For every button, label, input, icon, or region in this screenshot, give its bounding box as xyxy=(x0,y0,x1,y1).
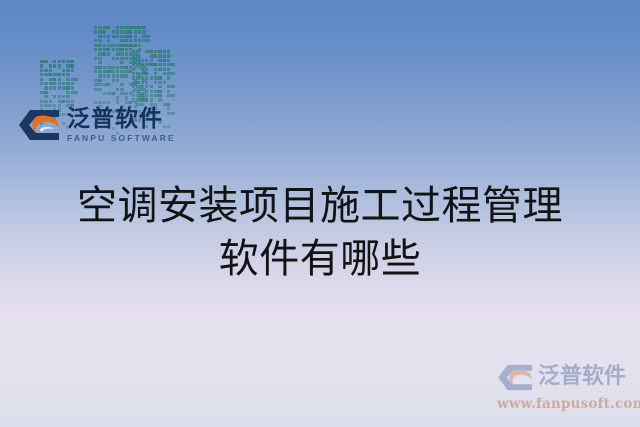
cityscape-pixel xyxy=(112,74,115,77)
cityscape-pixel xyxy=(158,68,161,71)
cityscape-pixel xyxy=(49,64,52,67)
cityscape-pixel xyxy=(44,100,47,103)
cityscape-pixel xyxy=(129,61,137,64)
cityscape-pixel xyxy=(66,60,74,63)
cityscape-pixel xyxy=(58,95,61,98)
cityscape-pixel xyxy=(142,39,150,42)
cityscape-pixel xyxy=(112,44,115,47)
cityscape-pixel xyxy=(134,101,137,104)
cityscape-pixel xyxy=(158,94,161,97)
fanpu-logo-cn-name: 泛普软件 xyxy=(67,108,176,131)
cityscape-pixel xyxy=(120,83,123,86)
cityscape-pixel xyxy=(98,57,101,60)
cityscape-pixel xyxy=(129,35,132,38)
cityscape-pixel xyxy=(138,30,141,33)
cityscape-pixel xyxy=(154,72,157,75)
cityscape-pixel xyxy=(134,88,137,91)
cityscape-pixel xyxy=(107,92,115,95)
cityscape-pixel xyxy=(107,44,115,47)
cityscape-pixel xyxy=(167,103,170,106)
cityscape-pixel xyxy=(167,59,170,62)
cityscape-pixel xyxy=(125,26,133,29)
cityscape-pixel xyxy=(163,68,166,71)
cityscape-pixel xyxy=(116,57,119,60)
cityscape-pixel xyxy=(66,69,69,72)
cityscape-pixel xyxy=(49,78,57,81)
cityscape-pixel xyxy=(62,60,65,63)
cityscape-pixel xyxy=(40,69,43,72)
cityscape-pixel xyxy=(44,104,52,107)
cityscape-pixel xyxy=(145,63,153,66)
cityscape-pixel xyxy=(138,74,141,77)
cityscape-pixel xyxy=(142,26,145,29)
cityscape-pixel xyxy=(120,26,128,29)
cityscape-pixel xyxy=(167,90,170,93)
cityscape-pixel xyxy=(103,35,106,38)
cityscape-pixel xyxy=(125,101,133,104)
cityscape-pixel xyxy=(134,44,137,47)
cityscape-pixel xyxy=(141,72,149,75)
cityscape-pixel xyxy=(94,101,97,104)
cityscape-pixel xyxy=(71,86,74,89)
cityscape-pixel xyxy=(53,73,61,76)
cityscape-pixel xyxy=(71,100,74,103)
cityscape-pixel xyxy=(154,68,157,71)
cityscape-pixel xyxy=(154,90,162,93)
cityscape-pixel xyxy=(132,76,135,79)
cityscape-pixel xyxy=(120,48,123,51)
cityscape-pixel xyxy=(136,72,139,75)
cityscape-pixel xyxy=(116,66,119,69)
cityscape-pixel xyxy=(62,73,65,76)
cityscape-pixel xyxy=(62,95,65,98)
cityscape-pixel xyxy=(98,48,101,51)
cityscape-pixel xyxy=(158,54,161,57)
cityscape-pixel xyxy=(103,66,106,69)
cityscape-pixel xyxy=(107,48,110,51)
cityscape-pixel xyxy=(40,104,43,107)
cityscape-pixel xyxy=(71,60,74,63)
cityscape-pixel xyxy=(98,61,101,64)
cityscape-pixel xyxy=(132,50,135,53)
cityscape-pixel xyxy=(94,44,102,47)
cityscape-pixel xyxy=(132,85,135,88)
cityscape-pixel xyxy=(141,98,149,101)
cityscape-pixel xyxy=(44,82,47,85)
cityscape-pixel xyxy=(167,54,170,57)
cityscape-pixel xyxy=(98,35,101,38)
cityscape-pixel xyxy=(103,52,106,55)
cityscape-pixel xyxy=(132,94,135,97)
cityscape-pixel xyxy=(94,66,102,69)
fanpu-logo-en-name: FANPU SOFTWARE xyxy=(67,134,176,143)
cityscape-pixel xyxy=(62,100,65,103)
cityscape-pixel xyxy=(94,26,97,29)
cityscape-pixel xyxy=(125,39,128,42)
cityscape-pixel xyxy=(145,90,148,93)
cityscape-pixel xyxy=(40,91,48,94)
cityscape-pixel xyxy=(134,79,137,82)
cityscape-pixel xyxy=(71,91,79,94)
cityscape-pixel xyxy=(141,68,144,71)
cityscape-pixel xyxy=(163,59,166,62)
cityscape-pixel xyxy=(112,57,115,60)
cityscape-pixel xyxy=(116,30,119,33)
cityscape-pixel xyxy=(94,30,97,33)
cityscape-pixel xyxy=(125,57,128,60)
cityscape-pixel xyxy=(167,63,175,66)
cityscape-pixel xyxy=(129,101,132,104)
cityscape-pixel xyxy=(132,72,135,75)
cityscape-pixel xyxy=(125,52,128,55)
cityscape-pixel xyxy=(132,59,140,62)
cityscape-pixel xyxy=(163,50,166,53)
cityscape-pixel xyxy=(154,50,157,53)
cityscape-pixel xyxy=(58,86,61,89)
cityscape-pixel xyxy=(40,64,43,67)
cityscape-pixel xyxy=(132,81,140,84)
cityscape-pixel xyxy=(142,70,145,73)
cityscape-pixel xyxy=(125,66,128,69)
cityscape-pixel xyxy=(129,39,132,42)
cityscape-pixel xyxy=(129,44,137,47)
cityscape-pixel xyxy=(66,82,69,85)
cityscape-pixel xyxy=(150,94,153,97)
cityscape-pixel xyxy=(107,70,115,73)
cityscape-pixel xyxy=(136,81,139,84)
cityscape-pixel xyxy=(136,98,144,101)
cityscape-pixel xyxy=(53,64,56,67)
cityscape-pixel xyxy=(40,82,43,85)
cityscape-pixel xyxy=(138,92,146,95)
cityscape-pixel xyxy=(134,57,137,60)
cityscape-pixel xyxy=(120,57,123,60)
cityscape-pixel xyxy=(98,79,101,82)
cityscape-pixel xyxy=(116,79,119,82)
fanpu-watermark: 泛普软件 www.fanpusoft.com xyxy=(497,364,637,420)
cityscape-pixel xyxy=(136,90,139,93)
cityscape-pixel xyxy=(141,81,144,84)
cityscape-pixel xyxy=(62,69,65,72)
cityscape-pixel xyxy=(142,30,145,33)
cityscape-pixel xyxy=(129,66,132,69)
cityscape-pixel xyxy=(49,86,52,89)
cityscape-pixel xyxy=(145,81,148,84)
cityscape-pixel xyxy=(103,48,111,51)
cityscape-pixel xyxy=(134,35,137,38)
cityscape-pixel xyxy=(145,94,148,97)
cityscape-pixel xyxy=(120,39,128,42)
cityscape-pixel xyxy=(116,70,119,73)
cityscape-pixel xyxy=(154,63,157,66)
cityscape-pixel xyxy=(49,100,52,103)
cityscape-pixel xyxy=(112,30,115,33)
cityscape-pixel xyxy=(103,44,106,47)
cityscape-pixel xyxy=(120,88,123,91)
cityscape-pixel xyxy=(125,30,133,33)
fanpu-logo: 泛普软件 FANPU SOFTWARE xyxy=(18,108,158,152)
cityscape-pixel xyxy=(66,73,69,76)
cityscape-pixel xyxy=(112,79,115,82)
cityscape-pixel xyxy=(116,48,124,51)
cityscape-pixel xyxy=(94,39,97,42)
cityscape-pixel xyxy=(120,61,123,64)
cityscape-pixel xyxy=(145,76,148,79)
cityscape-pixel xyxy=(58,82,61,85)
cityscape-pixel xyxy=(125,48,128,51)
cityscape-pixel xyxy=(132,54,135,57)
cityscape-pixel xyxy=(103,70,111,73)
watermark-brand-row: 泛普软件 xyxy=(497,364,637,394)
cityscape-pixel xyxy=(94,57,97,60)
cityscape-pixel xyxy=(120,74,128,77)
cityscape-pixel xyxy=(163,63,166,66)
watermark-url: www.fanpusoft.com xyxy=(497,396,637,412)
cityscape-pixel xyxy=(134,39,137,42)
cityscape-pixel xyxy=(62,82,65,85)
cityscape-pixel xyxy=(94,70,97,73)
cityscape-pixel xyxy=(40,100,43,103)
cityscape-pixel xyxy=(167,72,175,75)
cityscape-pixel xyxy=(150,98,153,101)
cityscape-pixel xyxy=(125,96,128,99)
cityscape-pixel xyxy=(129,52,132,55)
cityscape-pixel xyxy=(120,30,123,33)
cityscape-pixel xyxy=(98,26,101,29)
cityscape-pixel xyxy=(53,86,56,89)
cityscape-pixel xyxy=(150,63,158,66)
cityscape-pixel xyxy=(58,100,66,103)
cityscape-pixel xyxy=(150,76,153,79)
cityscape-pixel xyxy=(49,82,57,85)
cityscape-pixel xyxy=(107,35,110,38)
cityscape-pixel xyxy=(112,48,115,51)
cityscape-pixel xyxy=(150,85,153,88)
fanpu-logo-text: 泛普软件 FANPU SOFTWARE xyxy=(67,108,176,143)
cityscape-pixel xyxy=(112,92,115,95)
cityscape-pixel xyxy=(112,35,120,38)
cityscape-pixel xyxy=(103,74,106,77)
cityscape-pixel xyxy=(94,48,97,51)
cityscape-pixel xyxy=(103,26,111,29)
cityscape-pixel xyxy=(132,63,135,66)
cityscape-pixel xyxy=(58,104,61,107)
fanpu-logo-mark xyxy=(18,109,62,141)
cityscape-pixel xyxy=(163,81,166,84)
cityscape-pixel xyxy=(58,64,61,67)
cityscape-pixel xyxy=(134,26,142,29)
cityscape-pixel xyxy=(66,86,69,89)
cityscape-pixel xyxy=(167,50,170,53)
cityscape-pixel xyxy=(71,69,74,72)
cityscape-pixel xyxy=(145,50,153,53)
cityscape-pixel xyxy=(58,60,61,63)
cityscape-pixel xyxy=(136,85,144,88)
cityscape-pixel xyxy=(150,54,158,57)
cityscape-pixel xyxy=(167,94,175,97)
cityscape-pixel xyxy=(150,90,153,93)
cityscape-pixel xyxy=(120,44,128,47)
cityscape-pixel xyxy=(107,74,110,77)
cityscape-pixel xyxy=(44,69,47,72)
cityscape-pixel xyxy=(125,35,133,38)
cityscape-pixel xyxy=(158,81,161,84)
watermark-cn-name: 泛普软件 xyxy=(538,364,626,390)
cityscape-pixel xyxy=(71,82,74,85)
cityscape-pixel xyxy=(136,94,144,97)
cityscape-pixel xyxy=(136,63,144,66)
cityscape-pixel xyxy=(125,44,133,47)
cityscape-pixel xyxy=(120,66,128,69)
cityscape-pixel xyxy=(154,76,162,79)
cityscape-pixel xyxy=(40,60,48,63)
cityscape-pixel xyxy=(120,35,128,38)
cityscape-pixel xyxy=(120,92,128,95)
cityscape-pixel xyxy=(44,73,52,76)
cityscape-pixel xyxy=(138,88,146,91)
cityscape-pixel xyxy=(62,86,70,89)
cityscape-pixel xyxy=(125,70,133,73)
cityscape-pixel xyxy=(129,92,132,95)
cityscape-pixel xyxy=(158,85,161,88)
cityscape-pixel xyxy=(138,44,141,47)
cityscape-pixel xyxy=(154,81,157,84)
cityscape-pixel xyxy=(158,63,161,66)
cityscape-pixel xyxy=(132,68,135,71)
cityscape-pixel xyxy=(145,98,148,101)
cityscape-pixel xyxy=(107,101,110,104)
cityscape-pixel xyxy=(134,52,137,55)
cityscape-pixel xyxy=(98,74,101,77)
cityscape-pixel xyxy=(116,101,119,104)
cityscape-pixel xyxy=(138,96,141,99)
cityscape-pixel xyxy=(142,66,145,69)
cityscape-pixel xyxy=(98,70,101,73)
cityscape-pixel xyxy=(58,78,61,81)
cityscape-pixel xyxy=(53,104,56,107)
cityscape-pixel xyxy=(158,50,161,53)
cityscape-pixel xyxy=(129,83,137,86)
cityscape-pixel xyxy=(103,83,111,86)
headline-title: 空调安装项目施工过程管理 软件有哪些 xyxy=(0,180,640,286)
cityscape-pixel xyxy=(44,95,47,98)
cityscape-pixel xyxy=(167,85,175,88)
cityscape-pixel xyxy=(71,64,74,67)
cityscape-pixel xyxy=(116,52,124,55)
cityscape-pixel xyxy=(107,39,110,42)
cityscape-pixel xyxy=(138,57,141,60)
headline-line-1: 空调安装项目施工过程管理 xyxy=(0,180,640,233)
cityscape-pixel xyxy=(66,100,69,103)
cityscape-pixel xyxy=(138,48,141,51)
cityscape-pixel xyxy=(154,94,162,97)
cityscape-pixel xyxy=(134,66,137,69)
cityscape-pixel xyxy=(136,50,139,53)
cityscape-pixel xyxy=(134,83,137,86)
cityscape-pixel xyxy=(107,52,110,55)
cityscape-pixel xyxy=(107,26,110,29)
cityscape-pixel xyxy=(150,50,153,53)
cityscape-pixel xyxy=(53,95,56,98)
cityscape-pixel xyxy=(107,66,115,69)
cityscape-pixel xyxy=(136,54,139,57)
cityscape-pixel xyxy=(98,101,101,104)
cityscape-pixel xyxy=(120,70,123,73)
cityscape-pixel xyxy=(129,70,132,73)
cityscape-pixel xyxy=(145,85,148,88)
cityscape-pixel xyxy=(158,90,161,93)
cityscape-pixel xyxy=(129,26,137,29)
cityscape-pixel xyxy=(94,88,102,91)
cityscape-pixel xyxy=(107,83,110,86)
cityscape-pixel xyxy=(132,98,135,101)
cityscape-pixel xyxy=(150,59,153,62)
fanpu-watermark-mark xyxy=(497,364,535,391)
cityscape-pixel xyxy=(129,30,132,33)
cityscape-pixel xyxy=(134,61,137,64)
cityscape-pixel xyxy=(163,103,171,106)
cityscape-pixel xyxy=(158,76,161,79)
cityscape-pixel xyxy=(44,91,47,94)
cityscape-pixel xyxy=(145,72,148,75)
cityscape-pixel xyxy=(136,76,139,79)
cityscape-pixel xyxy=(158,59,166,62)
cityscape-pixel xyxy=(167,68,170,71)
cityscape-pixel xyxy=(163,72,166,75)
cityscape-pixel xyxy=(132,90,135,93)
cityscape-pixel xyxy=(145,59,148,62)
cityscape-pixel xyxy=(138,39,141,42)
cityscape-pixel xyxy=(66,78,69,81)
cityscape-pixel xyxy=(141,63,144,66)
cityscape-pixel xyxy=(116,96,119,99)
cityscape-pixel xyxy=(167,76,170,79)
cityscape-pixel xyxy=(134,30,137,33)
cityscape-pixel xyxy=(66,95,69,98)
cityscape-pixel xyxy=(158,98,161,101)
cityscape-pixel xyxy=(40,73,43,76)
cityscape-pixel xyxy=(129,48,132,51)
cityscape-pixel xyxy=(98,30,106,33)
cityscape-pixel xyxy=(138,61,141,64)
cityscape-pixel xyxy=(116,26,119,29)
cityscape-pixel xyxy=(94,79,102,82)
cityscape-pixel xyxy=(103,101,106,104)
cityscape-pixel xyxy=(58,73,61,76)
cityscape-pixel xyxy=(49,73,52,76)
cityscape-pixel xyxy=(145,68,148,71)
cityscape-pixel xyxy=(141,76,144,79)
cityscape-pixel xyxy=(66,64,74,67)
cityscape-pixel xyxy=(138,26,146,29)
promotional-banner: 泛普软件 FANPU SOFTWARE 空调安装项目施工过程管理 软件有哪些 泛… xyxy=(0,0,640,427)
cityscape-pixel xyxy=(141,94,144,97)
pixel-cityscape-graphic xyxy=(40,26,170,112)
cityscape-pixel xyxy=(98,52,106,55)
cityscape-pixel xyxy=(116,44,124,47)
cityscape-pixel xyxy=(138,66,141,69)
cityscape-pixel xyxy=(163,54,166,57)
cityscape-pixel xyxy=(98,66,101,69)
cityscape-pixel xyxy=(49,69,52,72)
cityscape-pixel xyxy=(142,96,145,99)
cityscape-pixel xyxy=(98,39,101,42)
cityscape-pixel xyxy=(116,88,119,91)
headline-line-2: 软件有哪些 xyxy=(0,233,640,286)
cityscape-pixel xyxy=(53,60,56,63)
cityscape-pixel xyxy=(53,78,56,81)
cityscape-pixel xyxy=(94,83,102,86)
